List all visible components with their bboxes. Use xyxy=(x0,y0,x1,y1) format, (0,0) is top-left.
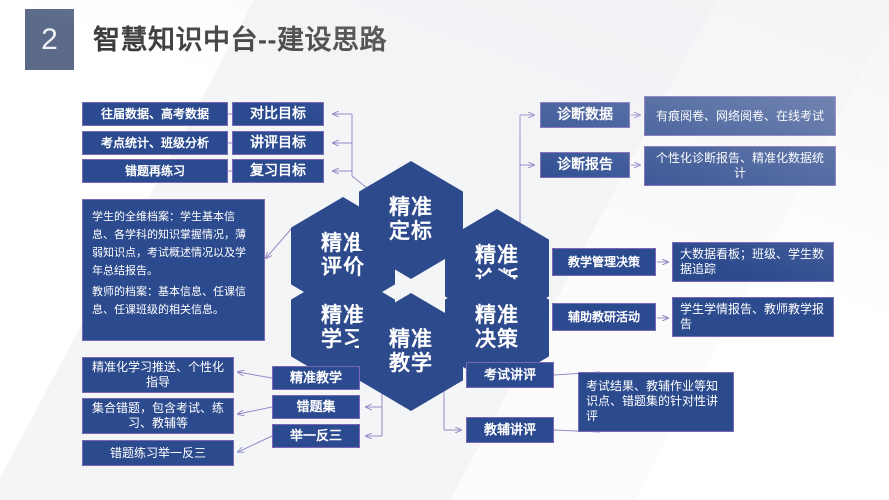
node-wrong-question-set[interactable]: 错题集 xyxy=(272,395,360,419)
node-label: 举一反三 xyxy=(290,428,342,444)
slide-canvas: 2 智慧知识中台--建设思路 xyxy=(0,0,889,500)
page-title: 智慧知识中台--建设思路 xyxy=(93,18,387,57)
node-precise-teaching[interactable]: 精准教学 xyxy=(272,366,360,390)
detail-label: 有痕阅卷、网络阅卷、在线考试 xyxy=(656,109,824,124)
node-target-2[interactable]: 复习目标 xyxy=(232,159,324,183)
hex-label-line1: 精准 xyxy=(475,244,519,268)
detail-personalized-push: 精准化学习推送、个性化指导 xyxy=(82,357,234,393)
node-source-2[interactable]: 错题再练习 xyxy=(82,159,228,183)
node-material-review[interactable]: 教辅讲评 xyxy=(466,417,554,443)
node-target-1[interactable]: 讲评目标 xyxy=(232,131,324,155)
node-label: 错题再练习 xyxy=(125,164,185,179)
detail-label: 集合错题，包含考试、练习、教辅等 xyxy=(90,401,226,431)
hex-label-line2: 教学 xyxy=(389,352,433,376)
archive-paragraph-student: 学生的全维档案：学生基本信息、各学科的知识掌握情况，薄弱知识点，考试概述情况以及… xyxy=(92,208,255,281)
detail-bigdata-dashboard: 大数据看板；班级、学生数据追踪 xyxy=(672,242,834,282)
node-diagnosis-data[interactable]: 诊断数据 xyxy=(540,102,630,128)
detail-collect-wrong-questions: 集合错题，包含考试、练习、教辅等 xyxy=(82,398,234,434)
node-source-1[interactable]: 考点统计、班级分析 xyxy=(82,131,228,155)
hex-label-line1: 精准 xyxy=(389,196,433,220)
section-number-badge: 2 xyxy=(25,9,74,70)
node-label: 考点统计、班级分析 xyxy=(101,136,209,151)
node-assist-research-activity[interactable]: 辅助教研活动 xyxy=(552,303,656,331)
hex-label-line1: 精准 xyxy=(389,328,433,352)
detail-label: 考试结果、教辅作业等知识点、错题集的针对性讲评 xyxy=(586,379,726,424)
detail-label: 精准化学习推送、个性化指导 xyxy=(90,360,226,390)
node-teaching-management-decision[interactable]: 教学管理决策 xyxy=(552,248,656,276)
detail-label: 大数据看板；班级、学生数据追踪 xyxy=(680,247,826,277)
node-label: 诊断报告 xyxy=(557,156,613,174)
detail-label: 错题练习举一反三 xyxy=(110,446,206,461)
node-label: 诊断数据 xyxy=(557,106,613,124)
detail-student-teacher-report: 学生学情报告、教师教学报告 xyxy=(672,297,834,337)
hex-jiaoxue[interactable]: 精准 教学 xyxy=(358,292,464,412)
node-label: 往届数据、高考数据 xyxy=(101,107,209,122)
node-label: 教辅讲评 xyxy=(484,422,536,438)
archive-panel: 学生的全维档案：学生基本信息、各学科的知识掌握情况，薄弱知识点，考试概述情况以及… xyxy=(82,199,265,341)
detail-targeted-review: 考试结果、教辅作业等知识点、错题集的针对性讲评 xyxy=(578,372,734,432)
detail-diagnosis-report: 个性化诊断报告、精准化数据统计 xyxy=(644,146,836,186)
detail-label: 学生学情报告、教师教学报告 xyxy=(680,302,826,332)
node-label: 错题集 xyxy=(296,399,335,415)
node-label: 对比目标 xyxy=(250,105,306,123)
node-label: 教学管理决策 xyxy=(568,255,640,270)
node-target-0[interactable]: 对比目标 xyxy=(232,102,324,126)
node-label: 复习目标 xyxy=(250,162,306,180)
hex-label-line2: 决策 xyxy=(475,328,519,352)
node-label: 辅助教研活动 xyxy=(568,310,640,325)
hex-label-line2: 定标 xyxy=(389,220,433,244)
node-diagnosis-report[interactable]: 诊断报告 xyxy=(540,152,630,178)
hex-body: 精准 教学 xyxy=(359,293,463,411)
node-label: 精准教学 xyxy=(290,370,342,386)
detail-diagnosis-data: 有痕阅卷、网络阅卷、在线考试 xyxy=(644,96,836,136)
node-source-0[interactable]: 往届数据、高考数据 xyxy=(82,102,228,126)
archive-paragraph-teacher: 教师的档案：基本信息、任课信息、任课班级的相关信息。 xyxy=(92,283,255,319)
node-label: 考试讲评 xyxy=(484,367,536,383)
node-exam-review[interactable]: 考试讲评 xyxy=(466,362,554,388)
node-infer-by-analogy[interactable]: 举一反三 xyxy=(272,424,360,448)
detail-wrong-question-practice: 错题练习举一反三 xyxy=(82,440,234,466)
hex-label-line1: 精准 xyxy=(475,304,519,328)
node-label: 讲评目标 xyxy=(250,134,306,152)
detail-label: 个性化诊断报告、精准化数据统计 xyxy=(652,151,828,181)
